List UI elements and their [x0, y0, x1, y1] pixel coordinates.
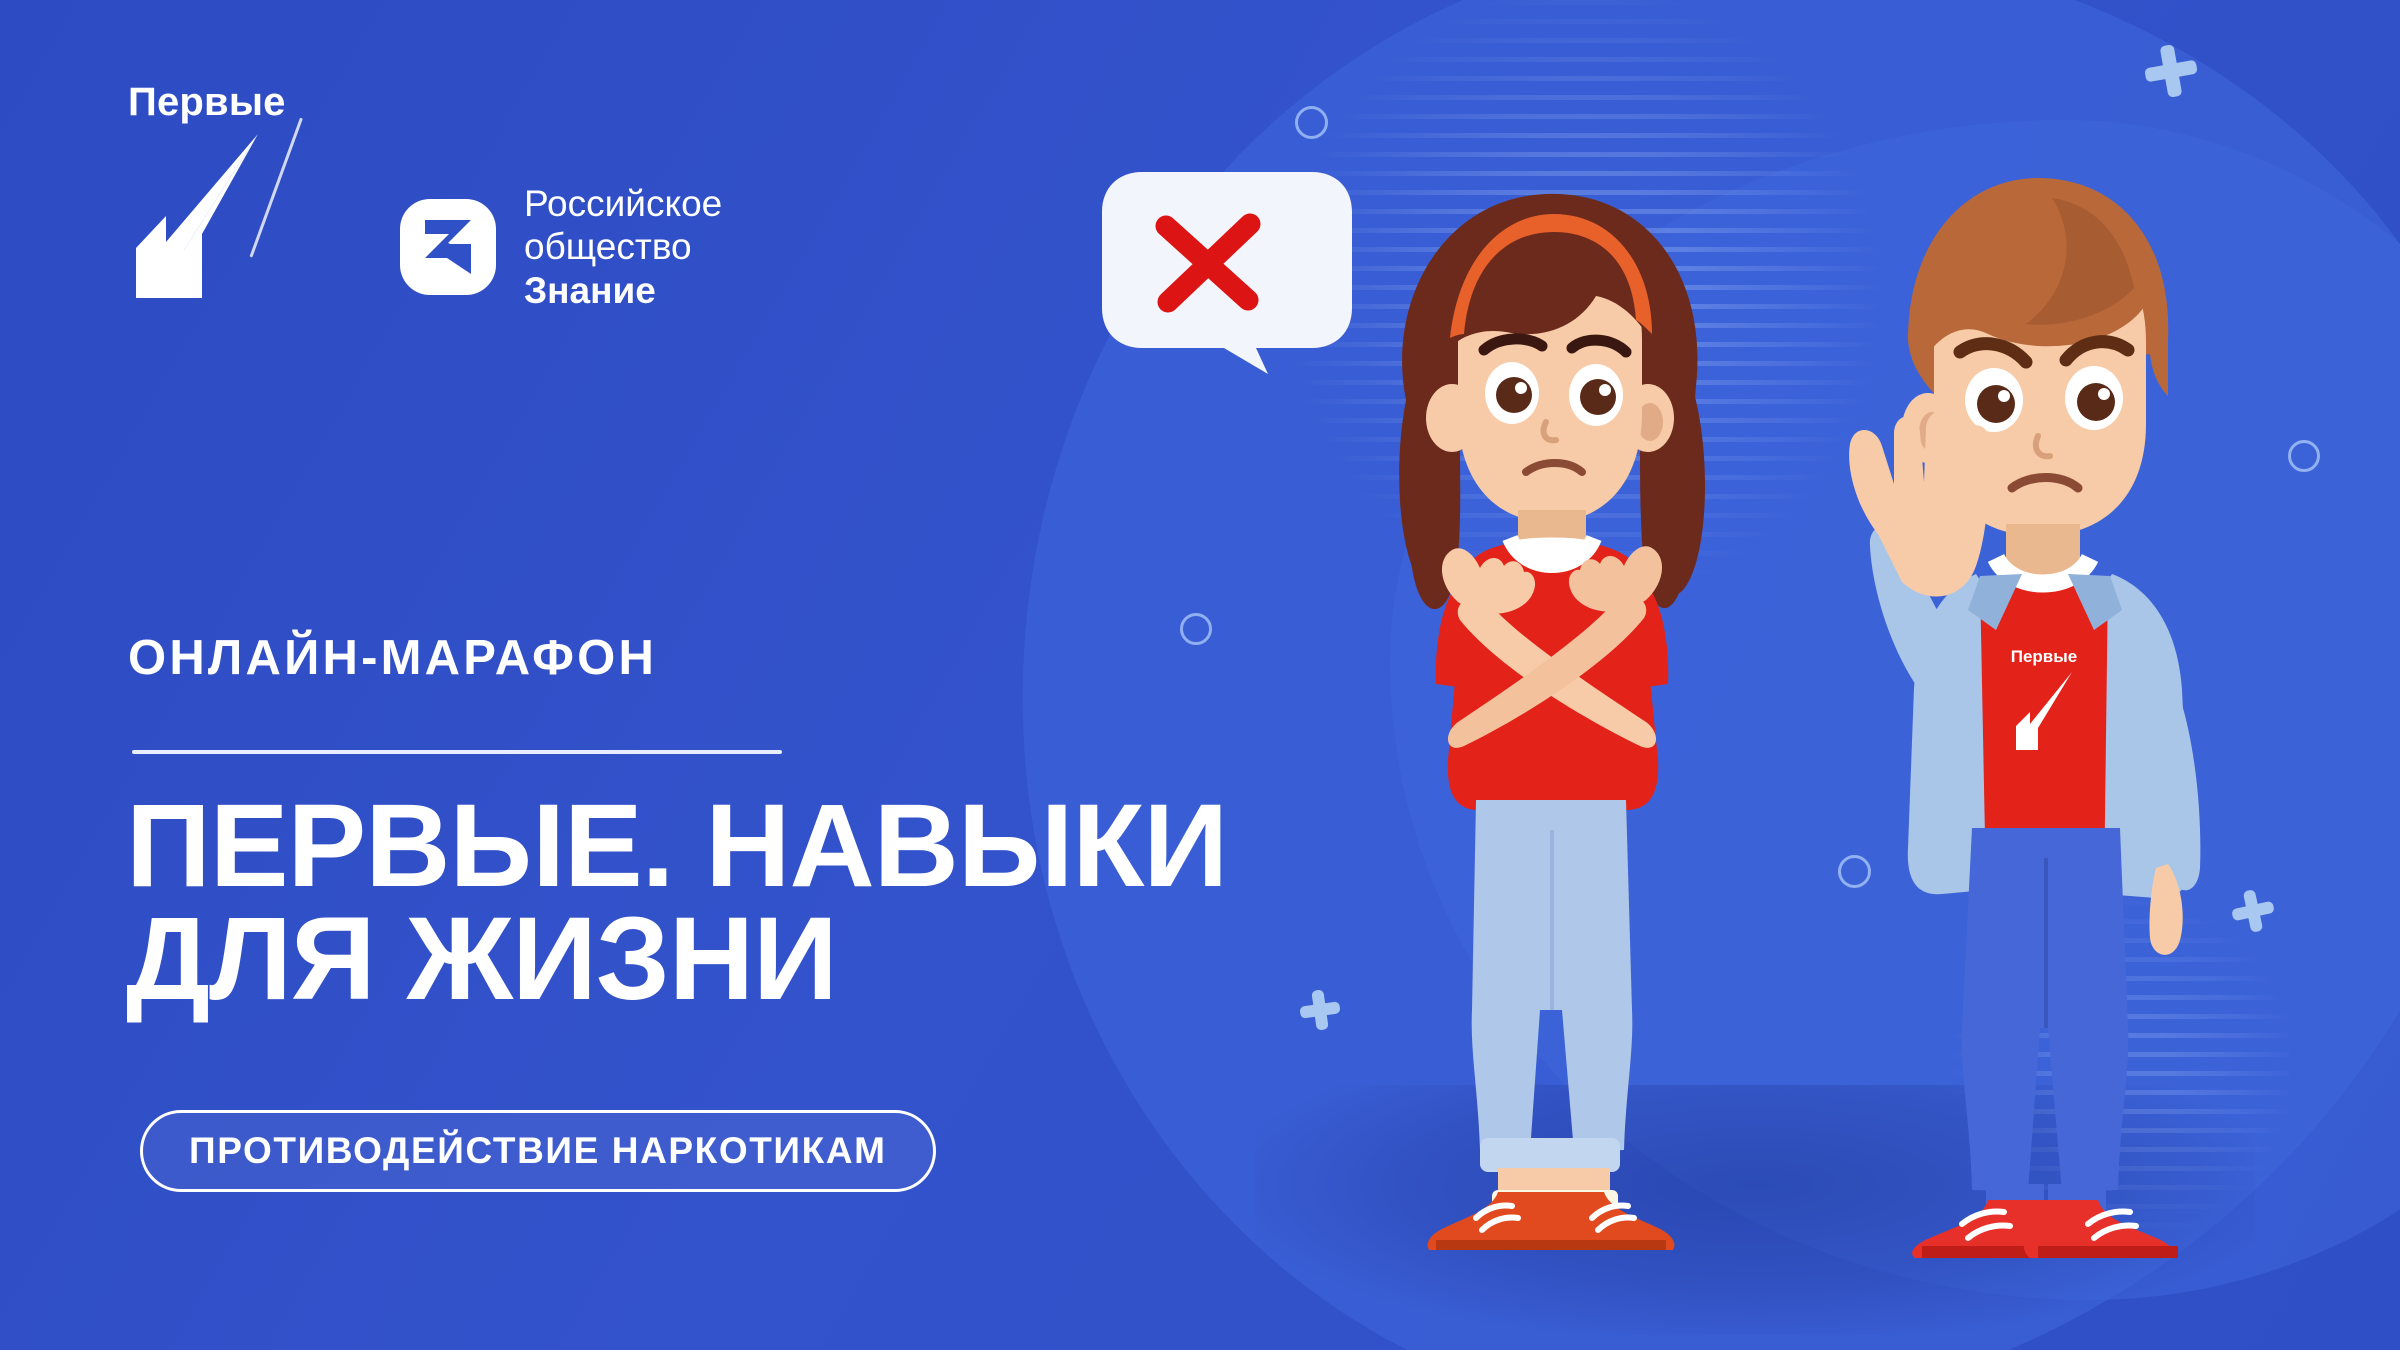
page-title: ПЕРВЫЕ. НАВЫКИ ДЛЯ ЖИЗНИ: [126, 790, 1306, 1017]
headline-divider-rule: [132, 750, 782, 754]
pervye-arrow-icon: [130, 130, 260, 298]
znanie-logo: Российское общество Знание: [400, 182, 722, 312]
pervye-wordmark: Первые: [128, 82, 303, 122]
deco-circle-4: [2288, 440, 2320, 472]
promotional-banner: Первые Российское общество Знание ОНЛАЙН…: [0, 0, 2400, 1350]
topic-badge: ПРОТИВОДЕЙСТВИЕ НАРКОТИКАМ: [140, 1110, 936, 1192]
znanie-line-2: общество: [524, 226, 692, 267]
deco-circle-1: [1295, 106, 1328, 139]
deco-circle-2: [1180, 613, 1212, 645]
znanie-line-3: Знание: [524, 269, 722, 312]
speech-bubble-with-red-x: [1098, 168, 1356, 376]
deco-plus-1: [2141, 41, 2201, 101]
eyebrow-label: ОНЛАЙН-МАРАФОН: [128, 630, 657, 686]
boy-shirt-wordmark: Первые: [2011, 647, 2077, 666]
znanie-line-1: Российское: [524, 183, 722, 224]
znanie-z-mark-icon: [400, 199, 496, 295]
girl-character: [1340, 150, 1760, 1250]
boy-character: Первые: [1790, 128, 2250, 1258]
znanie-wordmark: Российское общество Знание: [524, 182, 722, 312]
